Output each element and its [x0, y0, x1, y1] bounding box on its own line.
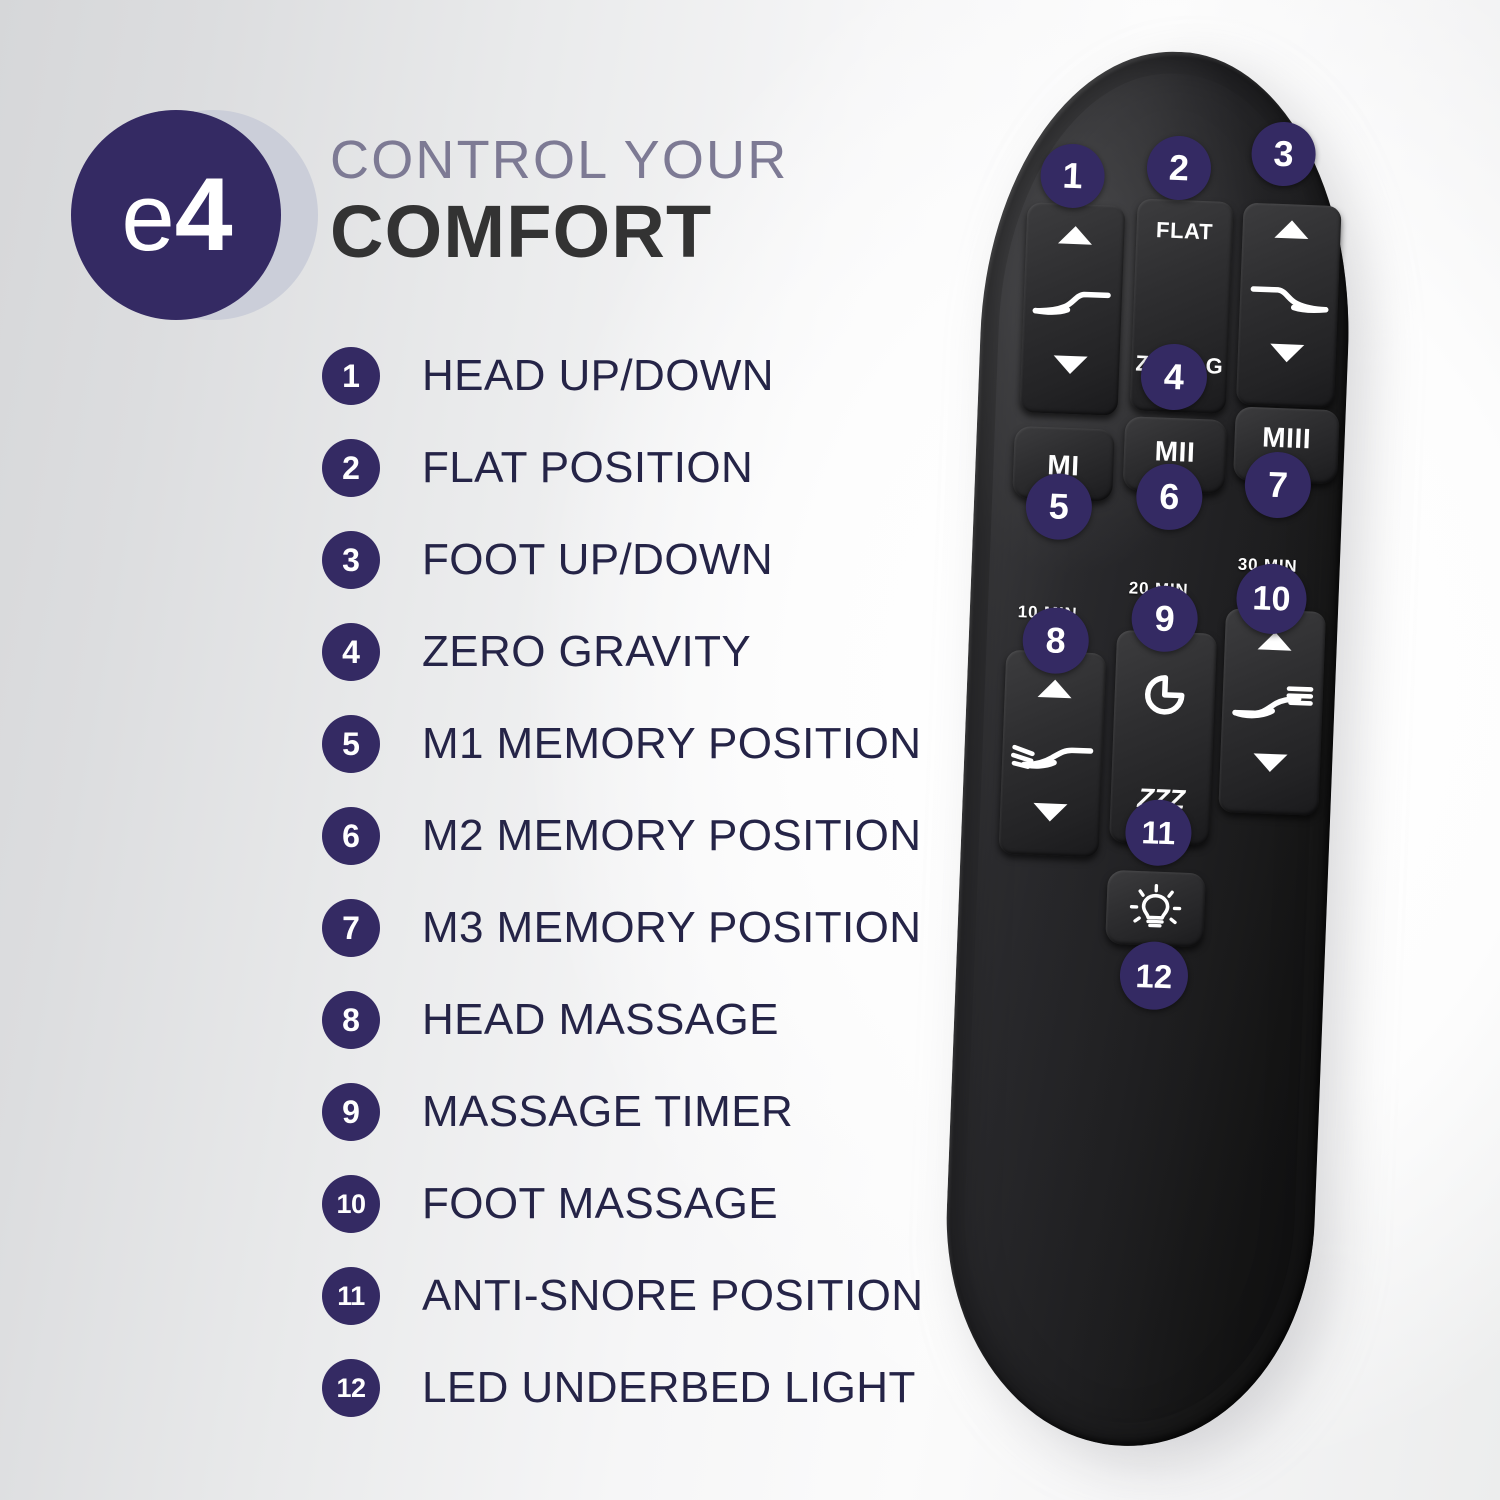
legend-label-10: FOOT MASSAGE — [422, 1182, 778, 1226]
legend-badge-1: 1 — [322, 347, 380, 405]
legend-row: 12LED UNDERBED LIGHT — [322, 1342, 922, 1434]
legend-row: 4ZERO GRAVITY — [322, 606, 922, 698]
logo-digit-4: 4 — [175, 163, 231, 267]
legend-label-4: ZERO GRAVITY — [422, 630, 751, 674]
legend-badge-12: 12 — [322, 1359, 380, 1417]
legend-row: 2FLAT POSITION — [322, 422, 922, 514]
chevron-down-icon — [1270, 344, 1305, 363]
flat-key-label: FLAT — [1136, 216, 1233, 246]
e4-logo: e 4 — [66, 104, 318, 326]
chevron-down-icon — [1033, 803, 1068, 822]
page-title: COMFORT — [330, 195, 712, 269]
legend-badge-3: 3 — [322, 531, 380, 589]
legend-badge-8: 8 — [322, 991, 380, 1049]
legend-row: 1HEAD UP/DOWN — [322, 330, 922, 422]
legend-label-5: M1 MEMORY POSITION — [422, 722, 921, 766]
legend-badge-5: 5 — [322, 715, 380, 773]
legend-label-12: LED UNDERBED LIGHT — [422, 1366, 916, 1410]
legend-row: 10FOOT MASSAGE — [322, 1158, 922, 1250]
legend-label-3: FOOT UP/DOWN — [422, 538, 773, 582]
lightbulb-icon — [1127, 881, 1185, 937]
legend-label-7: M3 MEMORY POSITION — [422, 906, 921, 950]
chevron-down-icon — [1253, 753, 1288, 772]
legend-list: 1HEAD UP/DOWN2FLAT POSITION3FOOT UP/DOWN… — [322, 330, 922, 1434]
logo-circle: e 4 — [71, 110, 281, 320]
timer-icon — [1139, 669, 1191, 721]
head-massage-icon — [1009, 734, 1095, 781]
legend-badge-11: 11 — [322, 1267, 380, 1325]
legend-row: 5M1 MEMORY POSITION — [322, 698, 922, 790]
m3-key-label: MIII — [1234, 420, 1339, 456]
legend-row: 9MASSAGE TIMER — [322, 1066, 922, 1158]
head-bed-icon — [1031, 280, 1115, 325]
legend-row: 11ANTI-SNORE POSITION — [322, 1250, 922, 1342]
foot-massage-icon — [1230, 682, 1316, 729]
chevron-up-icon — [1038, 679, 1073, 698]
legend-label-11: ANTI-SNORE POSITION — [422, 1274, 923, 1318]
legend-label-2: FLAT POSITION — [422, 446, 753, 490]
header-subtitle: CONTROL YOUR — [330, 133, 788, 187]
legend-label-8: HEAD MASSAGE — [422, 998, 779, 1042]
remote-control: FLAT ZERO G MI MII — [927, 32, 1401, 1472]
left-panel: e 4 CONTROL YOUR COMFORT 1HEAD UP/DOWN2F… — [0, 0, 940, 1500]
legend-label-9: MASSAGE TIMER — [422, 1090, 793, 1134]
key-head-up-down[interactable] — [1019, 202, 1125, 416]
key-head-massage[interactable] — [999, 650, 1107, 858]
legend-row: 6M2 MEMORY POSITION — [322, 790, 922, 882]
legend-badge-4: 4 — [322, 623, 380, 681]
remote-illustration: FLAT ZERO G MI MII — [900, 0, 1500, 1500]
infographic-canvas: e 4 CONTROL YOUR COMFORT 1HEAD UP/DOWN2F… — [0, 0, 1500, 1500]
logo-letter-e: e — [121, 170, 172, 266]
key-foot-massage[interactable] — [1218, 608, 1326, 816]
legend-badge-9: 9 — [322, 1083, 380, 1141]
legend-badge-7: 7 — [322, 899, 380, 957]
legend-row: 7M3 MEMORY POSITION — [322, 882, 922, 974]
legend-label-1: HEAD UP/DOWN — [422, 354, 774, 398]
chevron-up-icon — [1058, 225, 1093, 244]
chevron-down-icon — [1053, 355, 1088, 374]
logo-text: e 4 — [121, 163, 230, 267]
legend-label-6: M2 MEMORY POSITION — [422, 814, 921, 858]
key-foot-up-down[interactable] — [1236, 203, 1342, 409]
key-led-underbed-light[interactable] — [1105, 870, 1206, 948]
chevron-up-icon — [1258, 631, 1293, 650]
legend-row: 8HEAD MASSAGE — [322, 974, 922, 1066]
foot-bed-icon — [1247, 273, 1330, 316]
legend-badge-10: 10 — [322, 1175, 380, 1233]
legend-badge-2: 2 — [322, 439, 380, 497]
legend-badge-6: 6 — [322, 807, 380, 865]
chevron-up-icon — [1274, 220, 1309, 239]
legend-row: 3FOOT UP/DOWN — [322, 514, 922, 606]
